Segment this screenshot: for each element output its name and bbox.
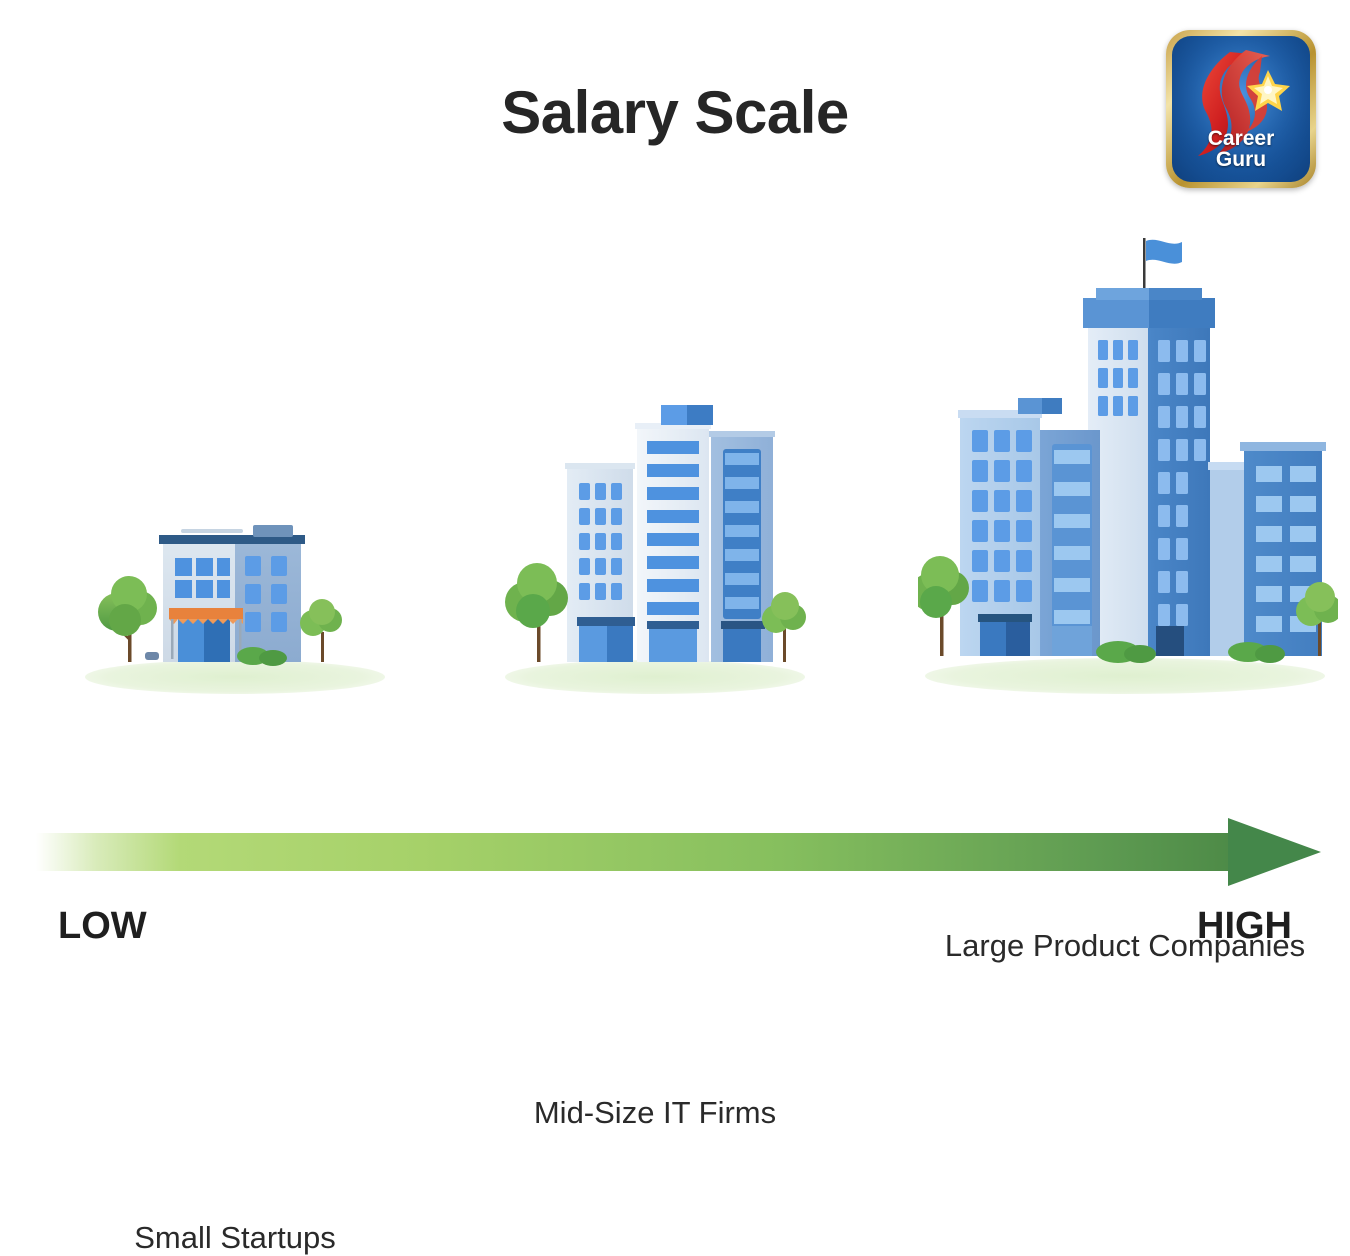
tree-left [505,563,568,662]
group-label-small-startups: Small Startups [60,1220,410,1256]
group-small-startups: Small Startups [60,520,410,740]
small-startup-building-illustration [85,520,385,680]
infographic-canvas: Salary Scale [0,0,1350,1080]
tree-left [98,576,157,662]
scale-label-high: HIGH [1197,905,1292,948]
group-label-mid-size-it-firms: Mid-Size IT Firms [470,1095,840,1131]
salary-scale-arrow [0,815,1350,895]
scale-bar [36,833,1236,871]
logo-text-line2: Guru [1172,149,1310,170]
scale-label-low: LOW [58,905,147,948]
mid-size-buildings-illustration [495,395,815,680]
page-title: Salary Scale [0,78,1350,147]
large-buildings-illustration [918,228,1338,678]
windows-tower-light [1098,340,1138,416]
logo-text: Career Guru [1172,128,1310,170]
group-large-product-companies: Large Product Companies [900,228,1350,740]
group-mid-size-it-firms: Mid-Size IT Firms [470,395,840,740]
tree-right [300,599,342,662]
logo-inner: Career Guru [1172,36,1310,182]
arrow-head-icon [1228,818,1321,886]
career-guru-logo: Career Guru [1166,30,1316,188]
logo-text-line1: Career [1172,128,1310,149]
